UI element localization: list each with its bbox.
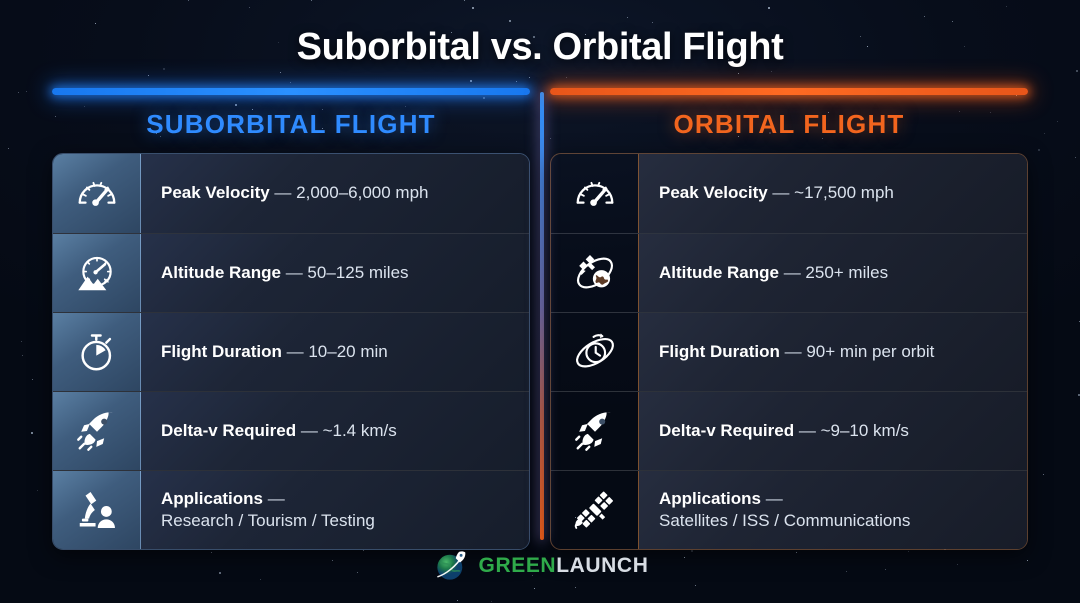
row-primary-line: Altitude Range — 50–125 miles [161,262,513,284]
row-value: 50–125 miles [307,263,408,282]
row-primary-line: Delta-v Required — ~1.4 km/s [161,420,513,442]
altimeter-mountain-icon [53,234,141,312]
row-text: Applications — Satellites / ISS / Commun… [639,471,1027,549]
row-dash: — [287,342,304,361]
table-row: Applications — Research / Tourism / Test… [53,470,529,549]
footer-branding: GREENLAUNCH [0,547,1080,585]
row-text: Applications — Research / Tourism / Test… [141,471,529,549]
brand-wordmark: GREENLAUNCH [479,554,649,578]
row-dash: — [766,489,783,508]
row-label: Applications [161,489,263,508]
infographic-canvas: Suborbital vs. Orbital Flight SUBORBITAL… [0,0,1080,603]
row-primary-line: Peak Velocity — ~17,500 mph [659,182,1011,204]
row-text: Flight Duration — 90+ min per orbit [639,313,1027,391]
row-dash: — [286,263,303,282]
row-label: Altitude Range [161,263,281,282]
table-row: Applications — Satellites / ISS / Commun… [551,470,1027,549]
rocket-icon [53,392,141,470]
row-primary-line: Flight Duration — 10–20 min [161,341,513,363]
row-text: Altitude Range — 250+ miles [639,234,1027,312]
row-text: Altitude Range — 50–125 miles [141,234,529,312]
row-label: Peak Velocity [659,183,768,202]
row-text: Peak Velocity — 2,000–6,000 mph [141,154,529,233]
satellite-icon [551,471,639,549]
row-primary-line: Peak Velocity — 2,000–6,000 mph [161,182,513,204]
suborbital-accent-bar [52,88,530,95]
row-text: Flight Duration — 10–20 min [141,313,529,391]
row-value: ~9–10 km/s [821,421,909,440]
row-label: Delta-v Required [659,421,794,440]
satellite-globe-icon [551,234,639,312]
rocket-icon [551,392,639,470]
row-dash: — [274,183,291,202]
row-value: 90+ min per orbit [806,342,934,361]
row-dash: — [268,489,285,508]
row-value: 250+ miles [805,263,888,282]
row-value: 10–20 min [308,342,387,361]
row-value: 2,000–6,000 mph [296,183,428,202]
table-row: Delta-v Required — ~9–10 km/s [551,391,1027,470]
row-label: Delta-v Required [161,421,296,440]
table-row: Delta-v Required — ~1.4 km/s [53,391,529,470]
row-primary-line: Flight Duration — 90+ min per orbit [659,341,1011,363]
row-label: Peak Velocity [161,183,270,202]
row-dash: — [799,421,816,440]
row-dash: — [301,421,318,440]
speedometer-icon [53,154,141,233]
table-row: Peak Velocity — 2,000–6,000 mph [53,154,529,233]
table-row: Flight Duration — 90+ min per orbit [551,312,1027,391]
table-row: Peak Velocity — ~17,500 mph [551,154,1027,233]
row-dash: — [772,183,789,202]
row-primary-line: Delta-v Required — ~9–10 km/s [659,420,1011,442]
row-label: Altitude Range [659,263,779,282]
row-primary-line: Altitude Range — 250+ miles [659,262,1011,284]
orbital-heading: ORBITAL FLIGHT [550,109,1028,140]
orbital-accent-bar [550,88,1028,95]
brand-launch: LAUNCH [556,554,648,577]
row-text: Peak Velocity — ~17,500 mph [639,154,1027,233]
row-dash: — [785,342,802,361]
brand-green: GREEN [479,554,557,577]
row-primary-line: Applications — [161,488,513,510]
row-subvalue: Research / Tourism / Testing [161,510,513,532]
orbital-column: ORBITAL FLIGHT Peak Velocity — ~17,500 m… [550,88,1028,550]
row-value: ~17,500 mph [794,183,894,202]
table-row: Flight Duration — 10–20 min [53,312,529,391]
table-row: Altitude Range — 50–125 miles [53,233,529,312]
row-label: Applications [659,489,761,508]
row-value: ~1.4 km/s [323,421,397,440]
stopwatch-icon [53,313,141,391]
globe-rocket-icon [432,547,470,585]
table-row: Altitude Range — 250+ miles [551,233,1027,312]
orbital-card: Peak Velocity — ~17,500 mph Altitude Ran… [550,153,1028,550]
suborbital-column: SUBORBITAL FLIGHT Peak Velocity — 2,000–… [52,88,530,550]
microscope-person-icon [53,471,141,549]
row-subvalue: Satellites / ISS / Communications [659,510,1011,532]
orbit-clock-icon [551,313,639,391]
suborbital-card: Peak Velocity — 2,000–6,000 mph Altitude… [52,153,530,550]
speedometer-icon [551,154,639,233]
center-divider [540,92,544,540]
row-label: Flight Duration [659,342,780,361]
page-title: Suborbital vs. Orbital Flight [0,26,1080,69]
row-text: Delta-v Required — ~1.4 km/s [141,392,529,470]
suborbital-heading: SUBORBITAL FLIGHT [52,109,530,140]
row-label: Flight Duration [161,342,282,361]
row-dash: — [784,263,801,282]
row-primary-line: Applications — [659,488,1011,510]
row-text: Delta-v Required — ~9–10 km/s [639,392,1027,470]
